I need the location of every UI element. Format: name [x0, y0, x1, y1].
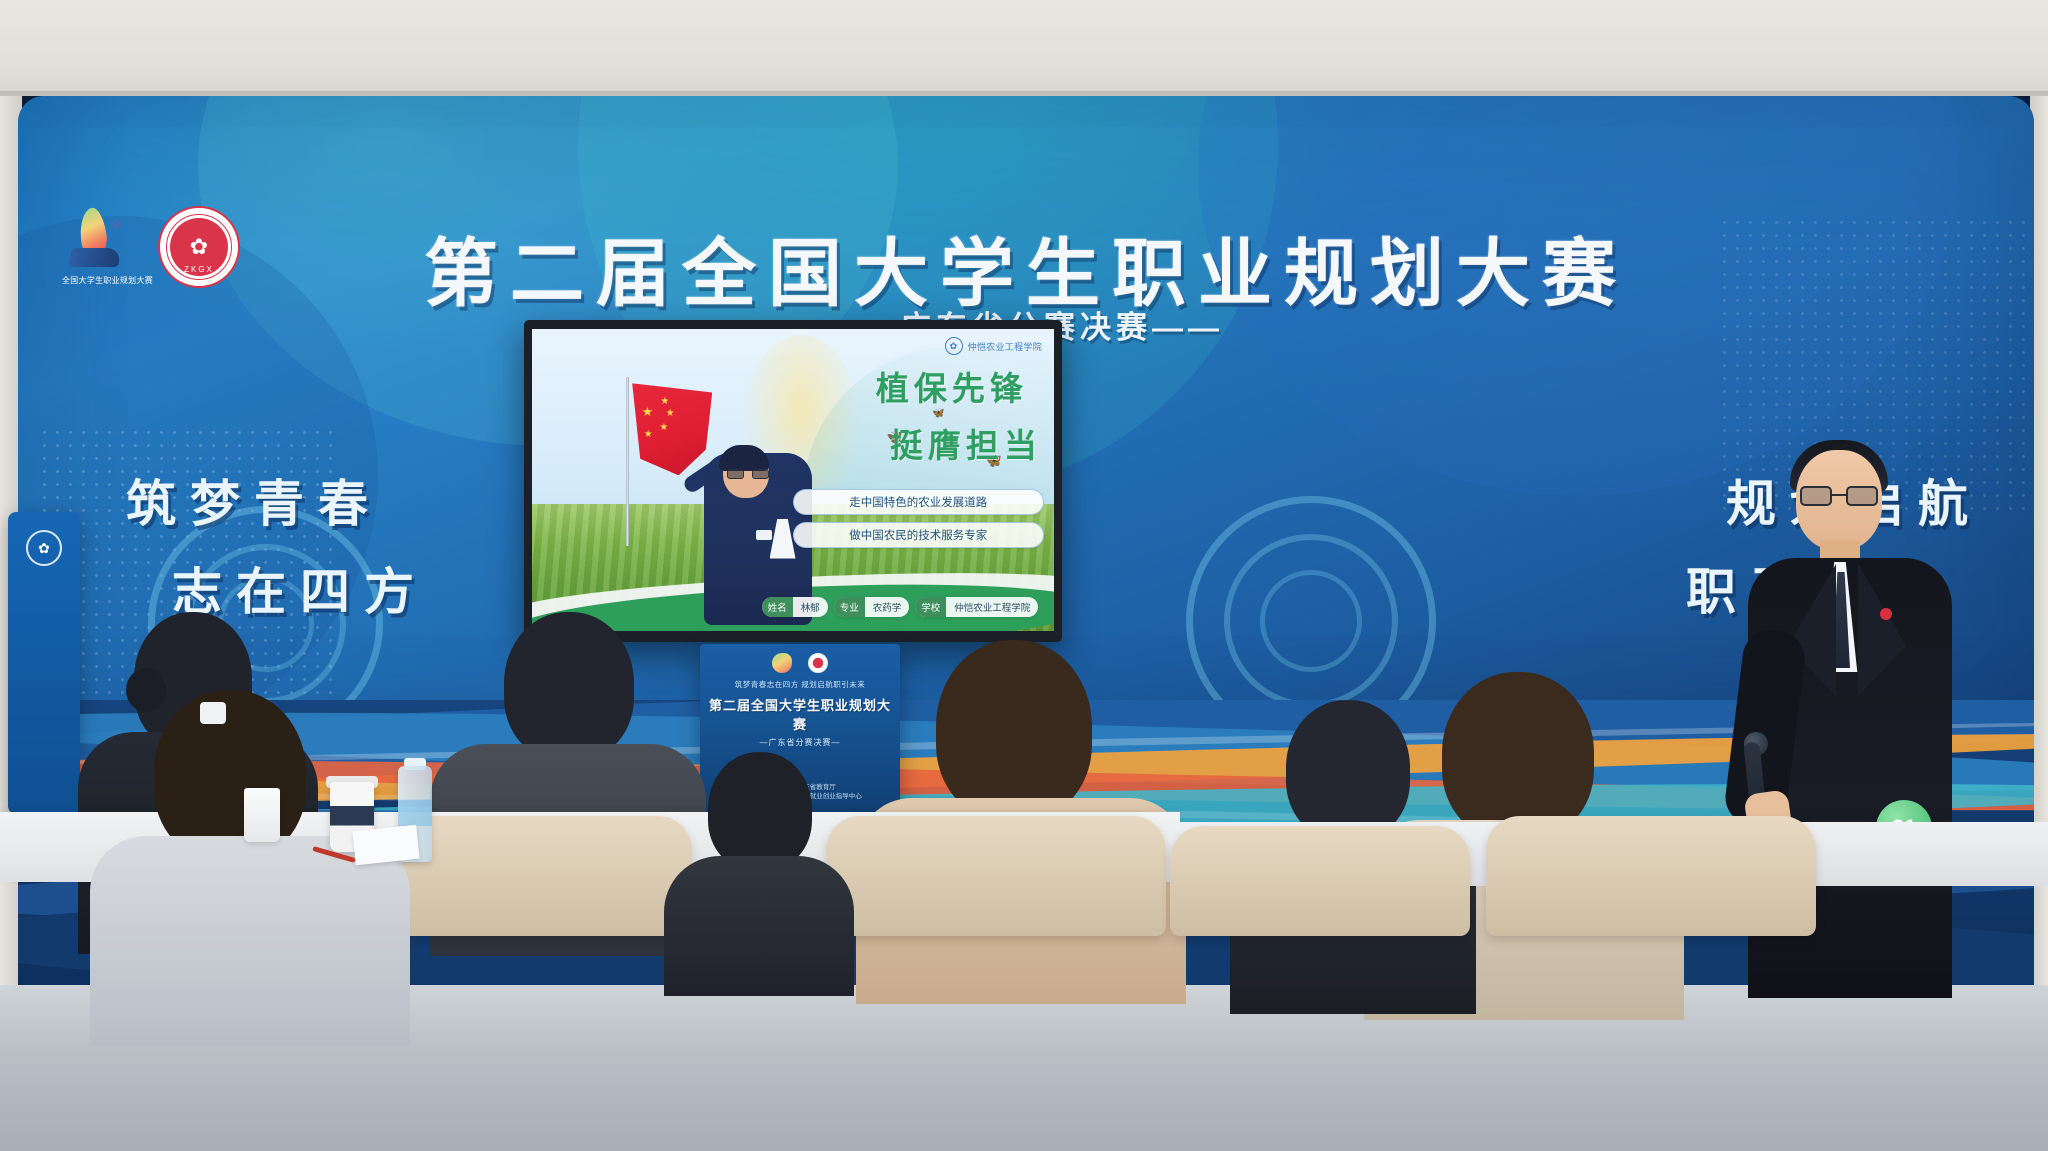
chip-key: 姓名 — [762, 597, 793, 617]
slogan-left: 筑梦青春 志在四方 — [126, 464, 428, 624]
chair — [1170, 826, 1470, 936]
flag-pole — [626, 377, 629, 546]
event-photo-scene: 全国大学生职业规划大赛 ✿ ZKGX 第二届全国大学生职业规划大赛 ——广东省分… — [0, 0, 2048, 1151]
bottle-label — [398, 800, 432, 826]
slide-school-logo: ✿ 仲恺农业工程学院 — [945, 337, 1042, 355]
chip-value: 林郁 — [793, 597, 828, 617]
audience-member — [664, 752, 854, 972]
desk-papers — [352, 825, 419, 866]
chair — [826, 816, 1166, 936]
chair — [1486, 816, 1816, 936]
podium-tagline: 筑梦青春志在四方 规划启航职引未来 — [708, 679, 892, 690]
flag-star-icon: ★ — [644, 430, 653, 440]
side-display-panel: ✿ — [8, 512, 80, 814]
podium-subtitle: —广东省分赛决赛— — [708, 737, 892, 748]
calligraphy-line1: 植保先锋 — [876, 362, 1028, 410]
chair — [392, 816, 692, 936]
slide-bullet-list: 走中国特色的农业发展道路 做中国农民的技术服务专家 — [793, 489, 1044, 555]
speaker-glasses-icon — [1800, 486, 1878, 506]
slide-bullet-item: 做中国农民的技术服务专家 — [793, 522, 1044, 548]
ceiling — [0, 0, 2048, 96]
slide-person-glasses-icon — [727, 469, 769, 479]
audience-member — [96, 690, 396, 1020]
chip-key: 学校 — [915, 597, 946, 617]
slide-person-pocket — [756, 530, 772, 540]
calligraphy-line2: 挺膺担当 — [876, 419, 1042, 467]
school-mark-icon: ✿ — [945, 337, 963, 355]
slogan-left-line1: 筑梦青春 — [126, 464, 428, 536]
competition-logo-icon — [772, 653, 792, 673]
chip-value: 农药学 — [865, 597, 910, 617]
presentation-screen: ✿ 仲恺农业工程学院 ★ ★ ★ ★ ★ 🦋 🦋 🦋 植保先锋 挺膺担当 — [524, 320, 1062, 642]
slide-info-chips: 姓名 林郁 专业 农药学 学校 仲恺农业工程学院 — [762, 597, 1039, 617]
speaker-lapel-pin-icon — [1880, 608, 1892, 620]
podium-title: 第二届全国大学生职业规划大赛 — [708, 695, 892, 733]
side-panel-logo-icon: ✿ — [26, 530, 62, 566]
info-chip: 姓名 林郁 — [762, 597, 828, 617]
chip-value: 仲恺农业工程学院 — [946, 597, 1038, 617]
ring-decor — [1260, 570, 1362, 672]
slide-content: ✿ 仲恺农业工程学院 ★ ★ ★ ★ ★ 🦋 🦋 🦋 植保先锋 挺膺担当 — [532, 329, 1054, 631]
flag-star-icon: ★ — [660, 397, 669, 407]
desk-cup-small — [244, 788, 280, 842]
podium-logos — [708, 653, 892, 673]
slide-bullet-item: 走中国特色的农业发展道路 — [793, 489, 1044, 515]
slide-calligraphy-title: 植保先锋 挺膺担当 — [876, 362, 1028, 467]
university-seal-icon — [808, 653, 828, 673]
info-chip: 学校 仲恺农业工程学院 — [915, 597, 1038, 617]
info-chip: 专业 农药学 — [834, 597, 910, 617]
flag-star-icon: ★ — [659, 423, 668, 433]
flag-star-icon: ★ — [642, 405, 654, 418]
chip-key: 专业 — [834, 597, 865, 617]
slide-school-label: 仲恺农业工程学院 — [968, 340, 1042, 353]
flag-star-icon: ★ — [666, 409, 675, 419]
